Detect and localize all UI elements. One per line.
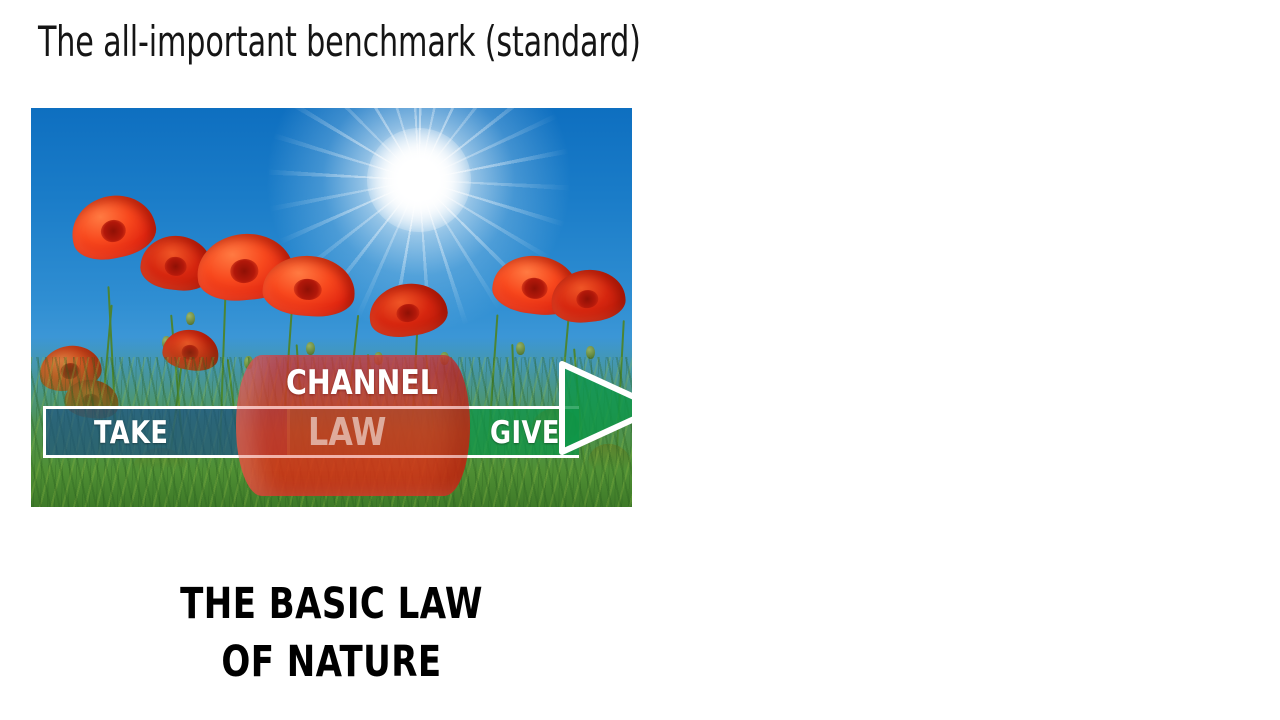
arrow-border-band-bottom xyxy=(236,455,470,458)
caption-line-2: OF NATURE xyxy=(67,633,596,691)
arrow-border-band-top xyxy=(236,406,470,409)
arrow-label-law: LAW xyxy=(308,413,386,451)
arrow-label-take: TAKE xyxy=(94,418,168,449)
arrow-label-give: GIVE xyxy=(490,418,560,449)
caption-block: THE BASIC LAW OF NATURE xyxy=(31,575,632,691)
caption-line-1: THE BASIC LAW xyxy=(67,575,596,633)
slide-canvas: The all-important benchmark (standard) xyxy=(0,0,1280,720)
poppy-field-image: TAKE GIVE CHANNEL LAW xyxy=(31,108,632,507)
page-title: The all-important benchmark (standard) xyxy=(38,17,998,67)
take-channel-give-arrow: TAKE GIVE CHANNEL LAW xyxy=(31,108,632,507)
arrow-label-channel: CHANNEL xyxy=(286,366,438,400)
